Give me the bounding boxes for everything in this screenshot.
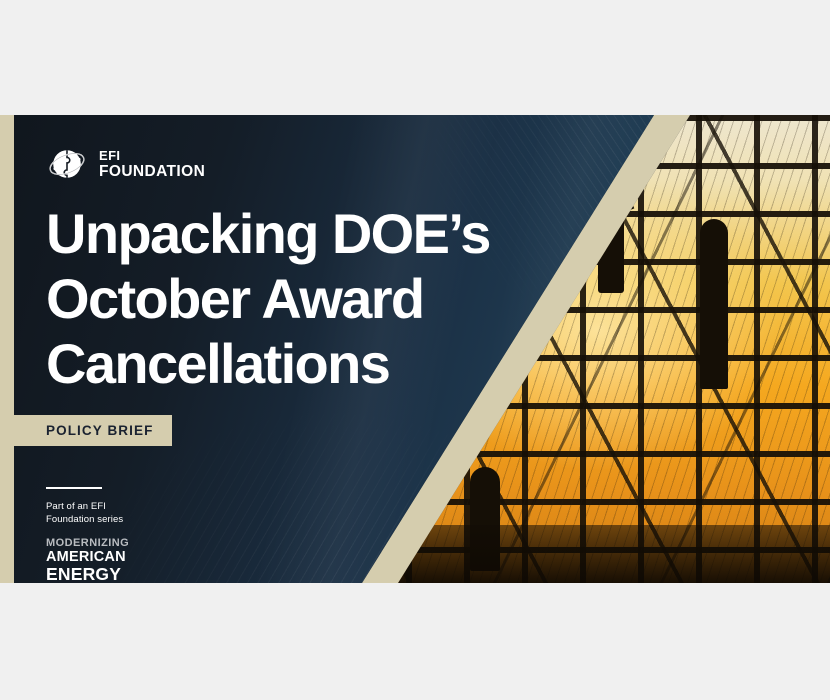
title-line-1: Unpacking DOE’s — [46, 201, 566, 266]
banner-content: EFI FOUNDATION Unpacking DOE’s October A… — [0, 115, 830, 583]
modernizing-american-energy-innovation-logo: MODERNIZING AMERICAN ENERGY INNOVATION — [46, 538, 129, 583]
badge-label: POLICY BRIEF — [46, 423, 153, 438]
efi-foundation-logo[interactable]: EFI FOUNDATION — [46, 143, 205, 185]
brand-line-1: EFI — [99, 149, 205, 163]
banner-footer: Part of an EFI Foundation series MODERNI… — [46, 487, 129, 583]
series-note-line-2: Foundation series — [46, 514, 129, 527]
series-note-line-1: Part of an EFI — [46, 501, 129, 514]
mae-line-1: MODERNIZING — [46, 538, 129, 549]
page-root: EFI FOUNDATION Unpacking DOE’s October A… — [0, 0, 830, 700]
policy-brief-banner: EFI FOUNDATION Unpacking DOE’s October A… — [0, 115, 830, 583]
brand-line-2: FOUNDATION — [99, 163, 205, 180]
series-note: Part of an EFI Foundation series — [46, 501, 129, 526]
page-title: Unpacking DOE’s October Award Cancellati… — [46, 201, 566, 396]
policy-brief-badge: POLICY BRIEF — [0, 415, 172, 446]
mae-line-3: ENERGY — [46, 566, 129, 584]
mae-line-2: AMERICAN — [46, 550, 129, 565]
title-line-3: Cancellations — [46, 331, 566, 396]
efi-foundation-wordmark: EFI FOUNDATION — [99, 149, 205, 180]
footer-divider-rule — [46, 487, 102, 489]
efi-globe-puzzle-icon — [46, 143, 88, 185]
title-line-2: October Award — [46, 266, 566, 331]
